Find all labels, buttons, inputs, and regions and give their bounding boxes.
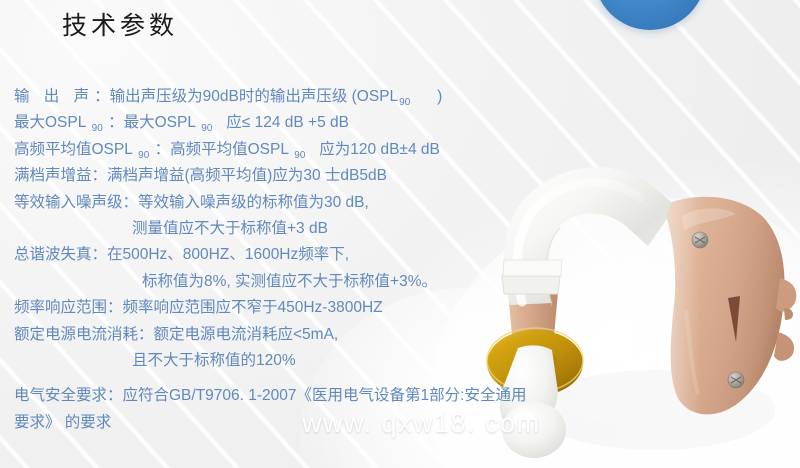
- subscript-90: 90: [398, 97, 411, 108]
- spec-line-full-on-gain: 满档声增益：满档声增益(高频平均值)应为30 士dB5dB: [14, 163, 574, 189]
- spec-line-total-harmonic-distortion: 总谐波失真：在500Hz、800HZ、1600Hz频率下,: [14, 242, 574, 268]
- spec-line-hf-average-ospl: 高频平均值OSPL 90 ：高频平均值OSPL 90 应为120 dB±4 dB: [14, 137, 574, 163]
- page-title: 技术参数: [62, 6, 178, 42]
- spec-line-equivalent-input-noise: 等效输入噪声级：等效输入噪声级的标称值为30 dB,: [14, 190, 574, 216]
- spec-line-output-sound: 输 出 声：输出声压级为90dB时的输出声压级 (OSPL90 ): [14, 84, 574, 110]
- spec-line-equivalent-input-noise-cont: 测量值应不大于标称值+3 dB: [14, 216, 574, 242]
- subscript-90: 90: [91, 123, 104, 134]
- spec-line-electrical-safety: 电气安全要求：应符合GB/T9706. 1-2007《医用电气设备第1部分:安全…: [14, 383, 574, 409]
- subscript-90: 90: [200, 123, 213, 134]
- subscript-90: 90: [137, 150, 150, 161]
- spec-line-total-harmonic-distortion-cont: 标称值为8%, 实测值应不大于标称值+3%。: [14, 269, 574, 295]
- spec-label-output-sound: 输 出 声: [14, 88, 94, 105]
- spec-line-frequency-response-range: 频率响应范围：频率响应范围应不窄于450Hz-3800HZ: [14, 295, 574, 321]
- site-watermark: www. qxw18. com: [302, 408, 541, 439]
- subscript-90: 90: [293, 150, 306, 161]
- screw-top: [692, 232, 708, 248]
- spec-line-rated-current-consumption-cont: 且不大于标称值的120%: [14, 348, 574, 374]
- spec-line-rated-current-consumption: 额定电源电流消耗：额定电源电流消耗应<5mA,: [14, 322, 574, 348]
- spec-line-max-ospl: 最大OSPL 90 ：最大OSPL 90 应≤ 124 dB +5 dB: [14, 110, 574, 136]
- spec-list: 输 出 声：输出声压级为90dB时的输出声压级 (OSPL90 ) 最大OSPL…: [14, 84, 574, 436]
- product-spec-page: 技术参数 输 出 声：输出声压级为90dB时的输出声压级 (OSPL90 ) 最…: [0, 0, 800, 468]
- screw-bottom: [728, 372, 744, 388]
